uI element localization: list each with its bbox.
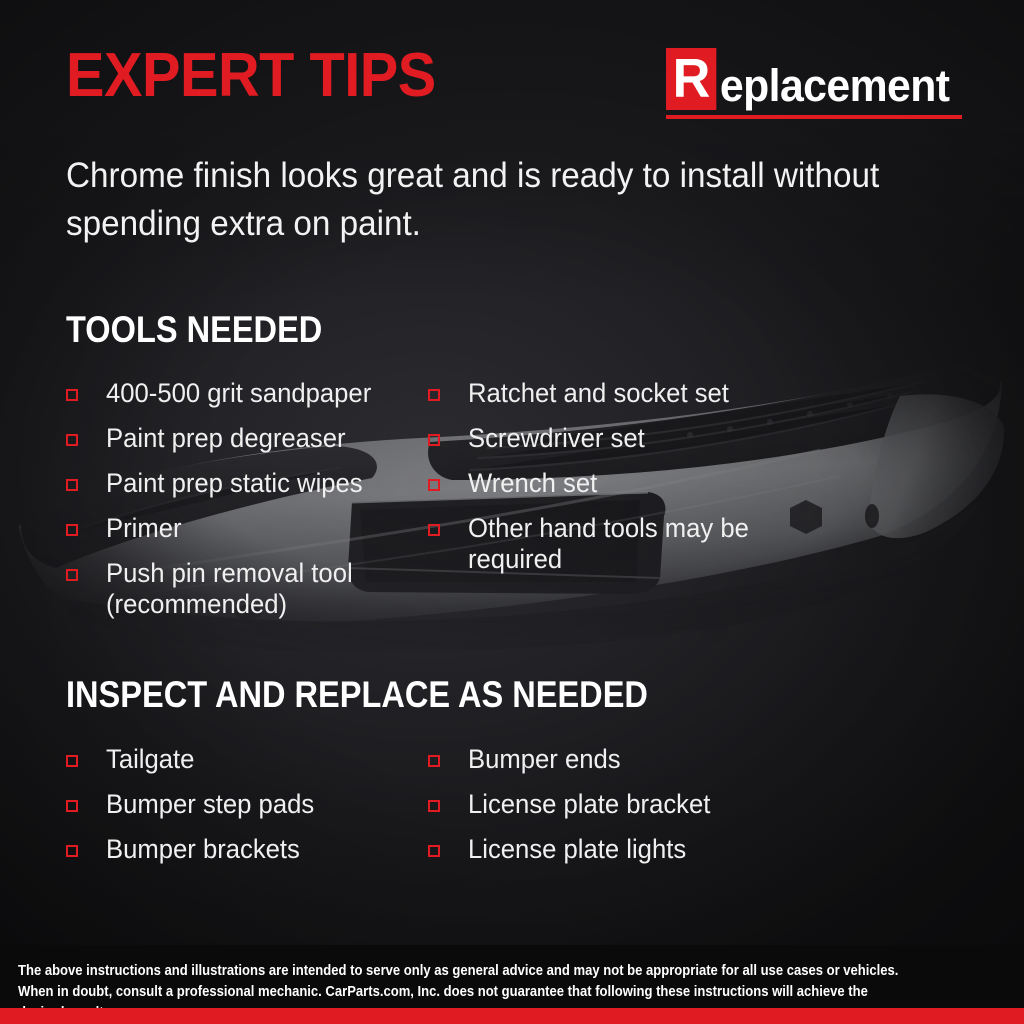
section-heading-tools: TOOLS NEEDED (66, 310, 322, 350)
list-item: Other hand tools may be required (428, 513, 866, 575)
list-item-label: Primer (106, 513, 182, 544)
list-item: 400-500 grit sandpaper (66, 378, 428, 423)
list-item: Paint prep degreaser (66, 423, 428, 468)
logo-wordmark: eplacement (718, 48, 949, 114)
list-item-label: License plate lights (468, 834, 686, 865)
checkbox-square-icon (428, 389, 440, 401)
checkbox-square-icon (66, 434, 78, 446)
checkbox-square-icon (66, 800, 78, 812)
list-item-label: Push pin removal tool (recommended) (106, 558, 353, 620)
inspect-left-column: Tailgate Bumper step pads Bumper bracket… (66, 744, 428, 879)
checkbox-square-icon (428, 479, 440, 491)
list-item: Screwdriver set (428, 423, 866, 468)
list-item-label: Wrench set (468, 468, 597, 499)
checkbox-square-icon (428, 800, 440, 812)
footer: The above instructions and illustrations… (0, 945, 1024, 1008)
list-item-label: Bumper step pads (106, 789, 314, 820)
checkbox-square-icon (428, 755, 440, 767)
list-item: Bumper ends (428, 744, 866, 789)
list-item-label: Bumper ends (468, 744, 621, 775)
tools-right-column: Ratchet and socket set Screwdriver set W… (428, 378, 866, 620)
list-item: Tailgate (66, 744, 428, 789)
list-item: Push pin removal tool (recommended) (66, 558, 428, 620)
checkbox-square-icon (66, 524, 78, 536)
list-item-label: Screwdriver set (468, 423, 645, 454)
list-item-label: 400-500 grit sandpaper (106, 378, 371, 409)
list-item: Primer (66, 513, 428, 558)
logo-row: R eplacement (666, 48, 962, 114)
list-item: Ratchet and socket set (428, 378, 866, 423)
list-item: Bumper brackets (66, 834, 428, 879)
list-item: License plate bracket (428, 789, 866, 834)
checkbox-square-icon (66, 479, 78, 491)
list-item: Wrench set (428, 468, 866, 513)
checkbox-square-icon (428, 845, 440, 857)
intro-paragraph: Chrome finish looks great and is ready t… (66, 152, 893, 248)
replacement-logo: R eplacement (666, 48, 962, 119)
checkbox-square-icon (66, 755, 78, 767)
list-item-label: Paint prep degreaser (106, 423, 346, 454)
checkbox-square-icon (66, 569, 78, 581)
logo-underline (666, 115, 962, 119)
page-title: EXPERT TIPS (66, 44, 436, 108)
list-item: License plate lights (428, 834, 866, 879)
checkbox-square-icon (428, 434, 440, 446)
list-item-label: Bumper brackets (106, 834, 300, 865)
list-item-label: Other hand tools may be required (468, 513, 846, 575)
tools-needed-list: 400-500 grit sandpaper Paint prep degrea… (66, 378, 866, 620)
tools-left-column: 400-500 grit sandpaper Paint prep degrea… (66, 378, 428, 620)
list-item-label: Tailgate (106, 744, 194, 775)
expert-tips-infographic: EXPERT TIPS R eplacement Chrome finish l… (0, 0, 1024, 1024)
list-item-label: Ratchet and socket set (468, 378, 729, 409)
list-item-label: License plate bracket (468, 789, 710, 820)
section-heading-inspect: INSPECT AND REPLACE AS NEEDED (66, 675, 648, 715)
inspect-replace-list: Tailgate Bumper step pads Bumper bracket… (66, 744, 866, 879)
header: EXPERT TIPS R eplacement (66, 44, 964, 124)
inspect-right-column: Bumper ends License plate bracket Licens… (428, 744, 866, 879)
list-item: Bumper step pads (66, 789, 428, 834)
footer-accent-bar (0, 1008, 1024, 1024)
list-item: Paint prep static wipes (66, 468, 428, 513)
checkbox-square-icon (66, 845, 78, 857)
checkbox-square-icon (66, 389, 78, 401)
checkbox-square-icon (428, 524, 440, 536)
list-item-label: Paint prep static wipes (106, 468, 363, 499)
logo-badge-letter: R (666, 48, 716, 110)
